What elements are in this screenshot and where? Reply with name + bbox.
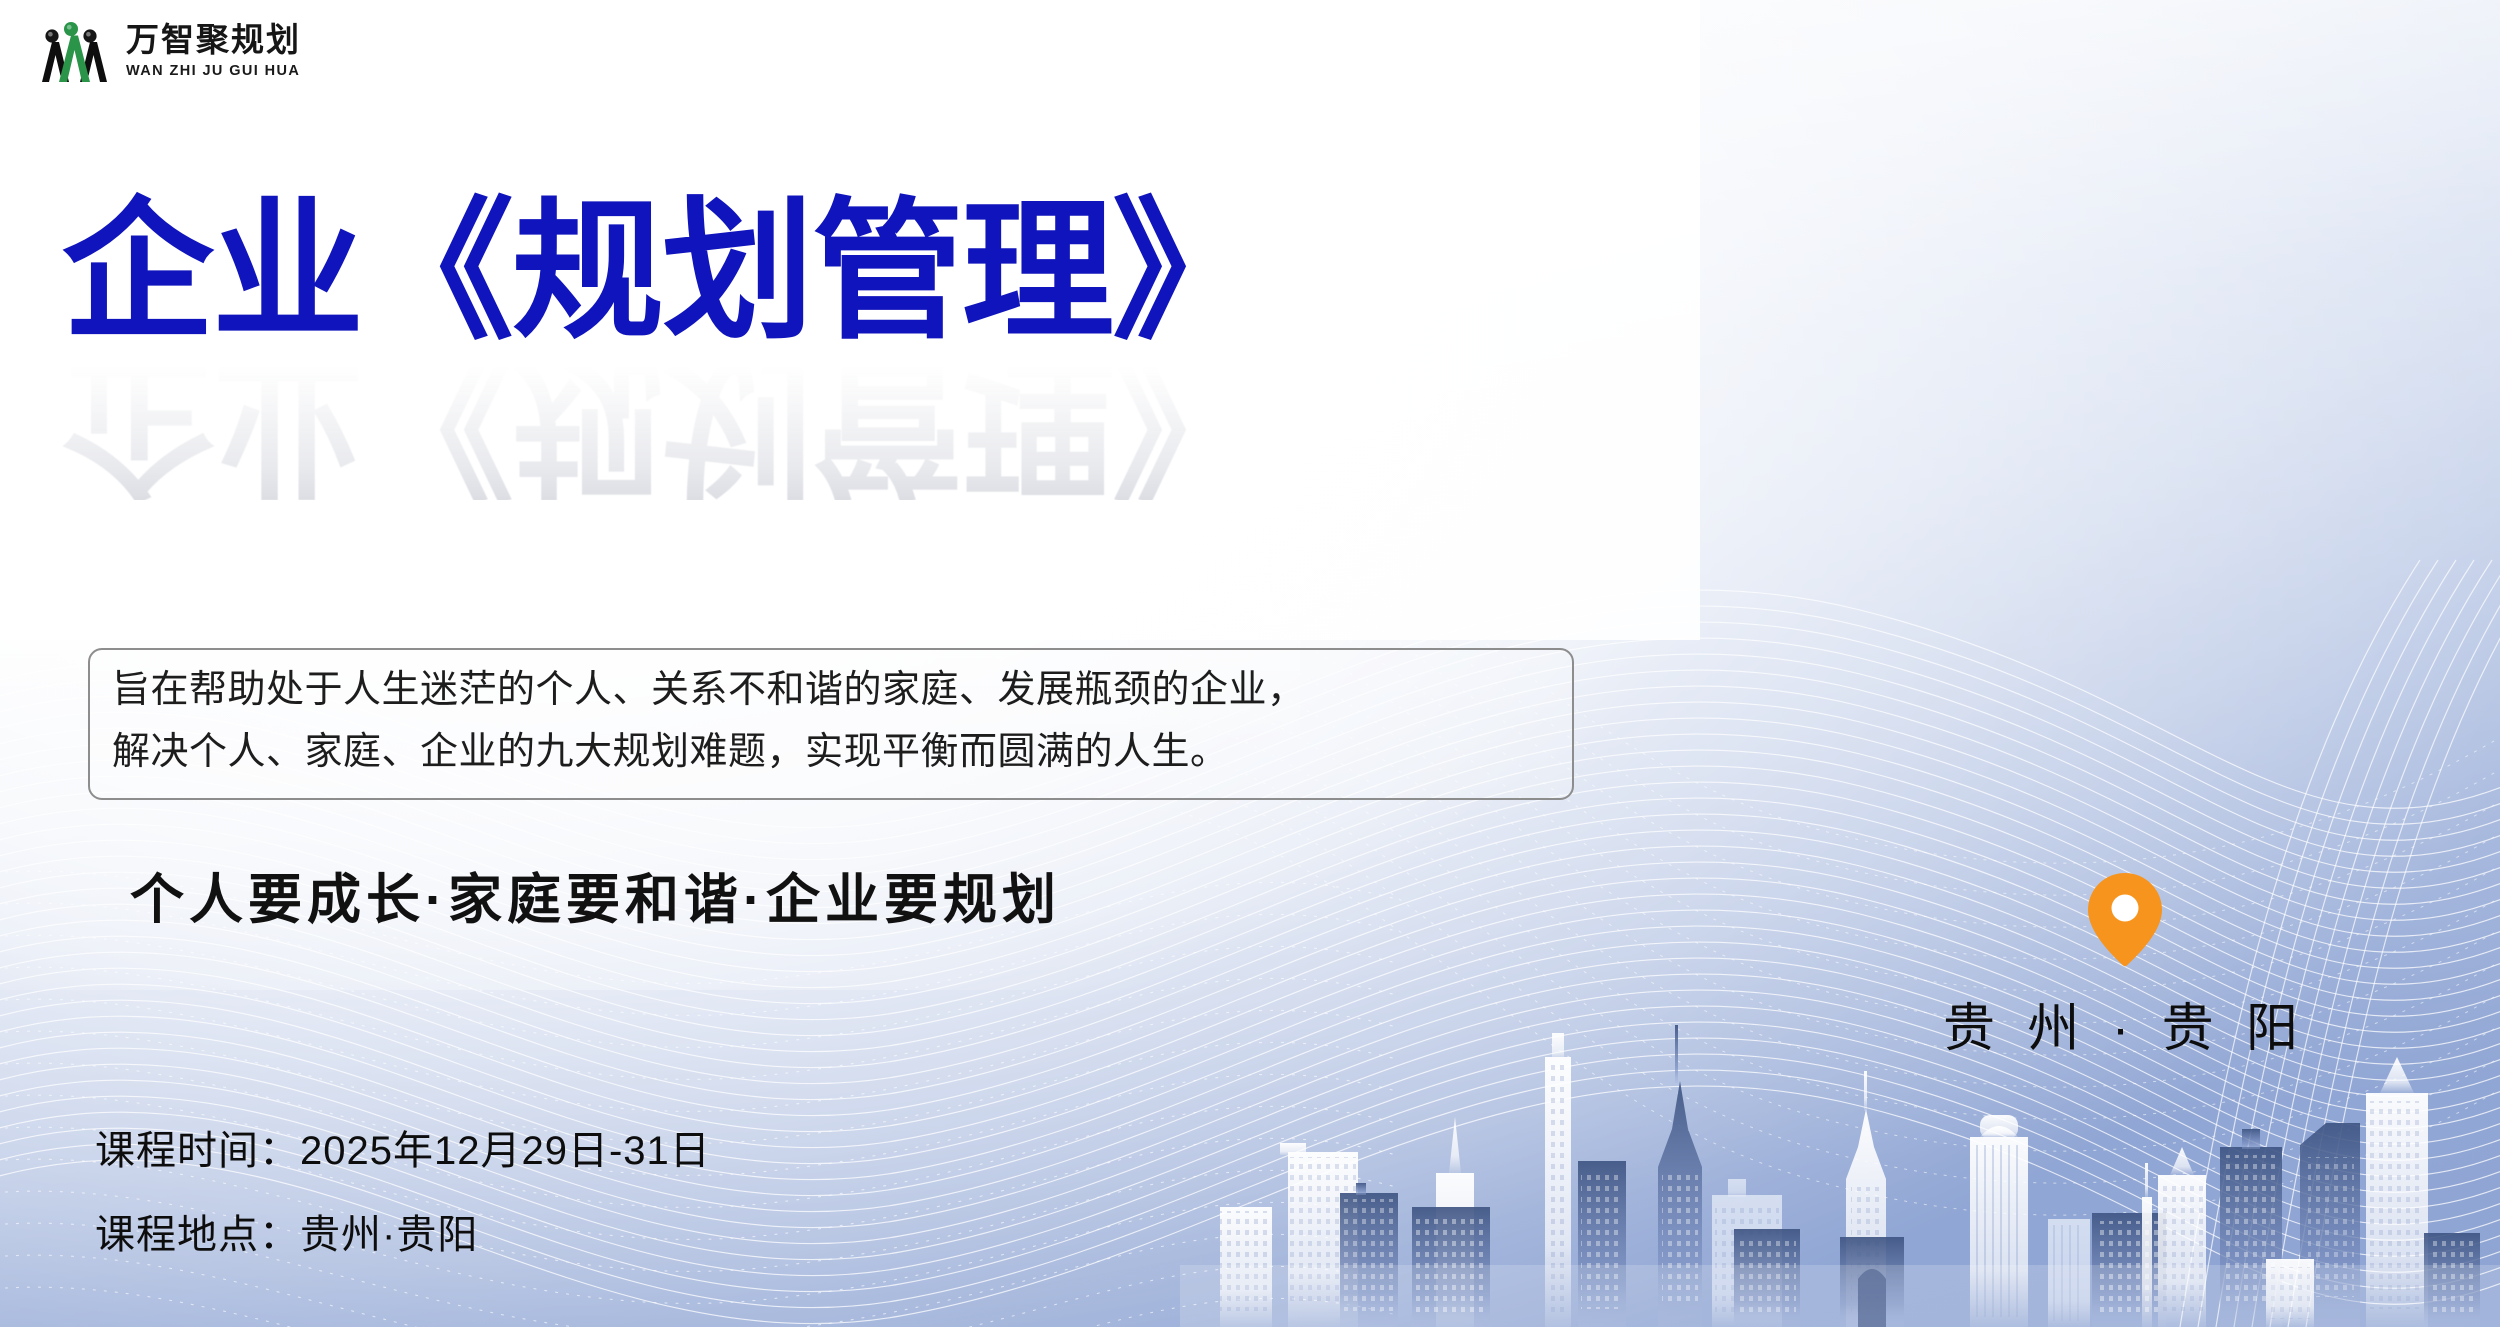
course-place: 课程地点：贵州·贵阳 (95, 1202, 711, 1260)
map-pin-icon (2085, 870, 2165, 968)
course-time: 课程时间：2025年12月29日-31日 (95, 1118, 711, 1176)
description-box: 旨在帮助处于人生迷茫的个人、关系不和谐的家庭、发展瓶颈的企业， 解决个人、家庭、… (88, 648, 1574, 800)
description-line-2: 解决个人、家庭、企业的九大规划难题，实现平衡而圆满的人生。 (112, 722, 1550, 784)
tagline: 个人要成长·家庭要和谐·企业要规划 (130, 855, 1061, 934)
title-reflection: 企业《规划管理》 (62, 348, 1262, 500)
course-info-block: 课程时间：2025年12月29日-31日 课程地点：贵州·贵阳 (95, 1118, 711, 1260)
brand-name-cn: 万智聚规划 (126, 23, 301, 60)
page-title: 企业《规划管理》 (62, 196, 1062, 348)
brand-wordmark: 万智聚规划 WAN ZHI JU GUI HUA (126, 23, 301, 79)
title-block: 企业《规划管理》 企业《规划管理》 (62, 196, 1062, 496)
brand-logo[interactable]: 万智聚规划 WAN ZHI JU GUI HUA (34, 14, 301, 88)
location-city-label: 贵 州 · 贵 阳 (1943, 986, 2307, 1061)
poster-canvas: 万智聚规划 WAN ZHI JU GUI HUA 企业《规划管理》 企业《规划管… (0, 0, 2500, 1327)
brand-name-en: WAN ZHI JU GUI HUA (126, 63, 301, 79)
description-line-1: 旨在帮助处于人生迷茫的个人、关系不和谐的家庭、发展瓶颈的企业， (112, 660, 1550, 722)
three-people-mark-icon (34, 14, 108, 88)
location-block: 贵 州 · 贵 阳 (1950, 870, 2300, 1061)
